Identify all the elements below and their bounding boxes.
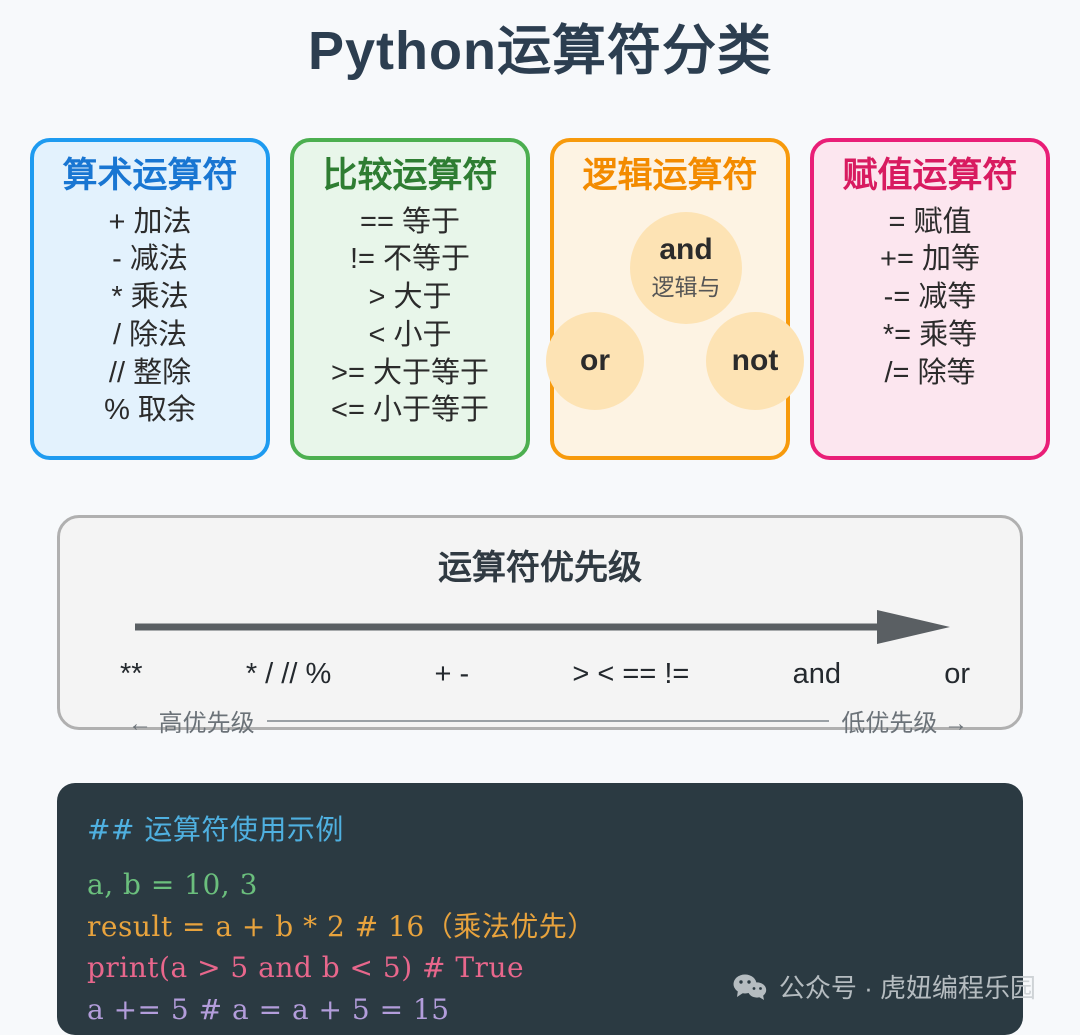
list-item: /= 除等	[814, 355, 1046, 393]
precedence-divider-line	[267, 720, 830, 722]
card-title-arithmetic: 算术运算符	[34, 154, 266, 198]
precedence-scale-legend: ← 高优先级 低优先级 →	[128, 703, 968, 738]
list-item: < 小于	[294, 317, 526, 355]
card-title-comparison: 比较运算符	[294, 154, 526, 198]
list-item: - 减法	[34, 241, 266, 279]
bubble-and: and 逻辑与	[630, 212, 742, 324]
precedence-low-label: 低优先级 →	[841, 703, 968, 738]
list-item: // 整除	[34, 355, 266, 393]
card-title-logical: 逻辑运算符	[554, 154, 786, 198]
card-items-arithmetic: + 加法 - 减法 * 乘法 / 除法 // 整除 % 取余	[34, 204, 266, 430]
list-item: *= 乘等	[814, 317, 1046, 355]
precedence-title: 运算符优先级	[60, 540, 1020, 589]
precedence-item: and	[793, 658, 841, 691]
list-item: <= 小于等于	[294, 392, 526, 430]
bubble-and-sublabel: 逻辑与	[652, 268, 721, 302]
precedence-high-label: ← 高优先级	[128, 703, 255, 738]
code-line: a, b = 10, 3	[87, 864, 1023, 905]
card-title-assignment: 赋值运算符	[814, 154, 1046, 198]
bubble-or-label: or	[580, 345, 610, 377]
precedence-item: + -	[435, 658, 470, 691]
precedence-item: > < == !=	[572, 658, 689, 691]
list-item: * 乘法	[34, 279, 266, 317]
code-line: result = a + b * 2 # 16（乘法优先）	[87, 906, 1023, 947]
card-comparison-operators: 比较运算符 == 等于 != 不等于 > 大于 < 小于 >= 大于等于 <= …	[290, 138, 530, 460]
precedence-item: * / // %	[246, 658, 331, 691]
list-item: / 除法	[34, 317, 266, 355]
bubble-not-label: not	[732, 345, 779, 377]
bubble-not: not	[706, 312, 804, 410]
bubble-and-label: and	[659, 234, 712, 266]
list-item: == 等于	[294, 204, 526, 242]
precedence-item-list: ** * / // % + - > < == != and or	[120, 658, 970, 691]
precedence-item: **	[120, 658, 143, 691]
list-item: + 加法	[34, 204, 266, 242]
card-items-comparison: == 等于 != 不等于 > 大于 < 小于 >= 大于等于 <= 小于等于	[294, 204, 526, 430]
card-assignment-operators: 赋值运算符 = 赋值 += 加等 -= 减等 *= 乘等 /= 除等	[810, 138, 1050, 460]
list-item: -= 减等	[814, 279, 1046, 317]
card-items-assignment: = 赋值 += 加等 -= 减等 *= 乘等 /= 除等	[814, 204, 1046, 392]
list-item: % 取余	[34, 392, 266, 430]
card-arithmetic-operators: 算术运算符 + 加法 - 减法 * 乘法 / 除法 // 整除 % 取余	[30, 138, 270, 460]
precedence-item: or	[944, 658, 970, 691]
list-item: = 赋值	[814, 204, 1046, 242]
operator-precedence-panel: 运算符优先级 ** * / // % + - > < == != and or …	[57, 515, 1023, 730]
operator-category-cards: 算术运算符 + 加法 - 减法 * 乘法 / 除法 // 整除 % 取余 比较运…	[30, 138, 1050, 460]
list-item: += 加等	[814, 241, 1046, 279]
page-title: Python运算符分类	[0, 0, 1080, 81]
list-item: >= 大于等于	[294, 355, 526, 393]
card-logical-operators: 逻辑运算符 and 逻辑与 or not	[550, 138, 790, 460]
list-item: != 不等于	[294, 241, 526, 279]
watermark-text: 公众号 · 虎妞编程乐园	[779, 968, 1036, 1005]
wechat-icon	[733, 973, 767, 1001]
bubble-or: or	[546, 312, 644, 410]
watermark: 公众号 · 虎妞编程乐园	[733, 968, 1036, 1005]
list-item: > 大于	[294, 279, 526, 317]
code-comment-line: ## 运算符使用示例	[87, 809, 1023, 850]
logical-bubble-area: and 逻辑与 or not	[554, 204, 786, 454]
code-spacer	[87, 850, 1023, 864]
precedence-arrow-icon	[135, 610, 950, 644]
